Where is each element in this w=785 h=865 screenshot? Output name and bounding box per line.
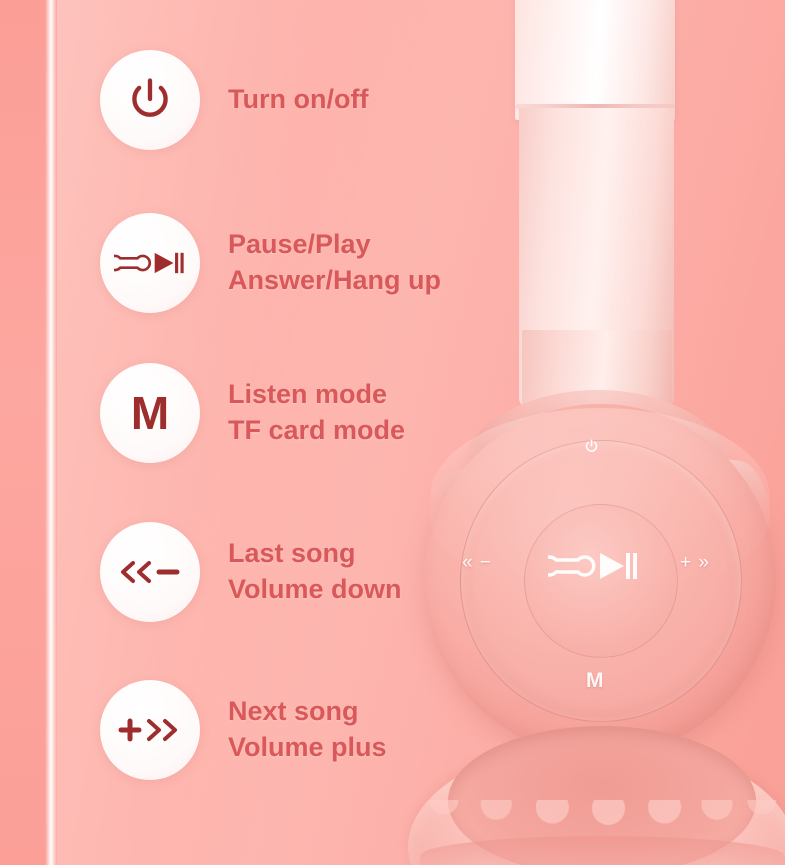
legend-item-next: Next song Volume plus: [100, 680, 387, 780]
mode-m-icon: M: [131, 390, 169, 436]
play-pause-loop-icon: [548, 548, 640, 584]
legend-label-mode: Listen mode TF card mode: [228, 377, 405, 448]
next-track-volume-up-icon: [117, 715, 183, 745]
legend-badge-mode: M: [100, 363, 200, 463]
legend-label-power: Turn on/off: [228, 82, 368, 118]
earcup-next-marking[interactable]: + »: [680, 553, 710, 572]
legend-label-previous: Last song Volume down: [228, 536, 402, 607]
power-icon: [124, 74, 176, 126]
legend-label-line2: TF card mode: [228, 413, 405, 449]
legend-item-power: Turn on/off: [100, 50, 368, 150]
headband: [515, 0, 675, 120]
legend-label-line2: Answer/Hang up: [228, 263, 441, 299]
legend-badge-play-pause: [100, 213, 200, 313]
legend-label-line1: Next song: [228, 694, 387, 730]
legend-item-play-pause: Pause/Play Answer/Hang up: [100, 213, 441, 313]
legend-item-previous: Last song Volume down: [100, 522, 402, 622]
product-infographic: « − + » M: [0, 0, 785, 865]
legend-label-line2: Volume down: [228, 572, 402, 608]
legend-label-line1: Pause/Play: [228, 227, 441, 263]
legend-label-line2: Volume plus: [228, 730, 387, 766]
control-legend-list: Turn on/off Pause/Play Answer/Hang up M: [0, 0, 520, 865]
legend-badge-next: [100, 680, 200, 780]
earcup-play-pause-marking[interactable]: [548, 548, 640, 589]
previous-track-volume-down-icon: [117, 557, 183, 587]
legend-label-line1: Listen mode: [228, 377, 405, 413]
earcup-power-marking[interactable]: [583, 438, 600, 459]
legend-label-line1: Last song: [228, 536, 402, 572]
legend-label-next: Next song Volume plus: [228, 694, 387, 765]
play-pause-loop-icon: [114, 248, 186, 278]
legend-item-mode: M Listen mode TF card mode: [100, 363, 405, 463]
legend-badge-previous: [100, 522, 200, 622]
legend-badge-power: [100, 50, 200, 150]
legend-label-line1: Turn on/off: [228, 84, 368, 114]
power-icon: [583, 438, 600, 455]
legend-label-play-pause: Pause/Play Answer/Hang up: [228, 227, 441, 298]
earcup-mode-marking[interactable]: M: [586, 670, 604, 691]
